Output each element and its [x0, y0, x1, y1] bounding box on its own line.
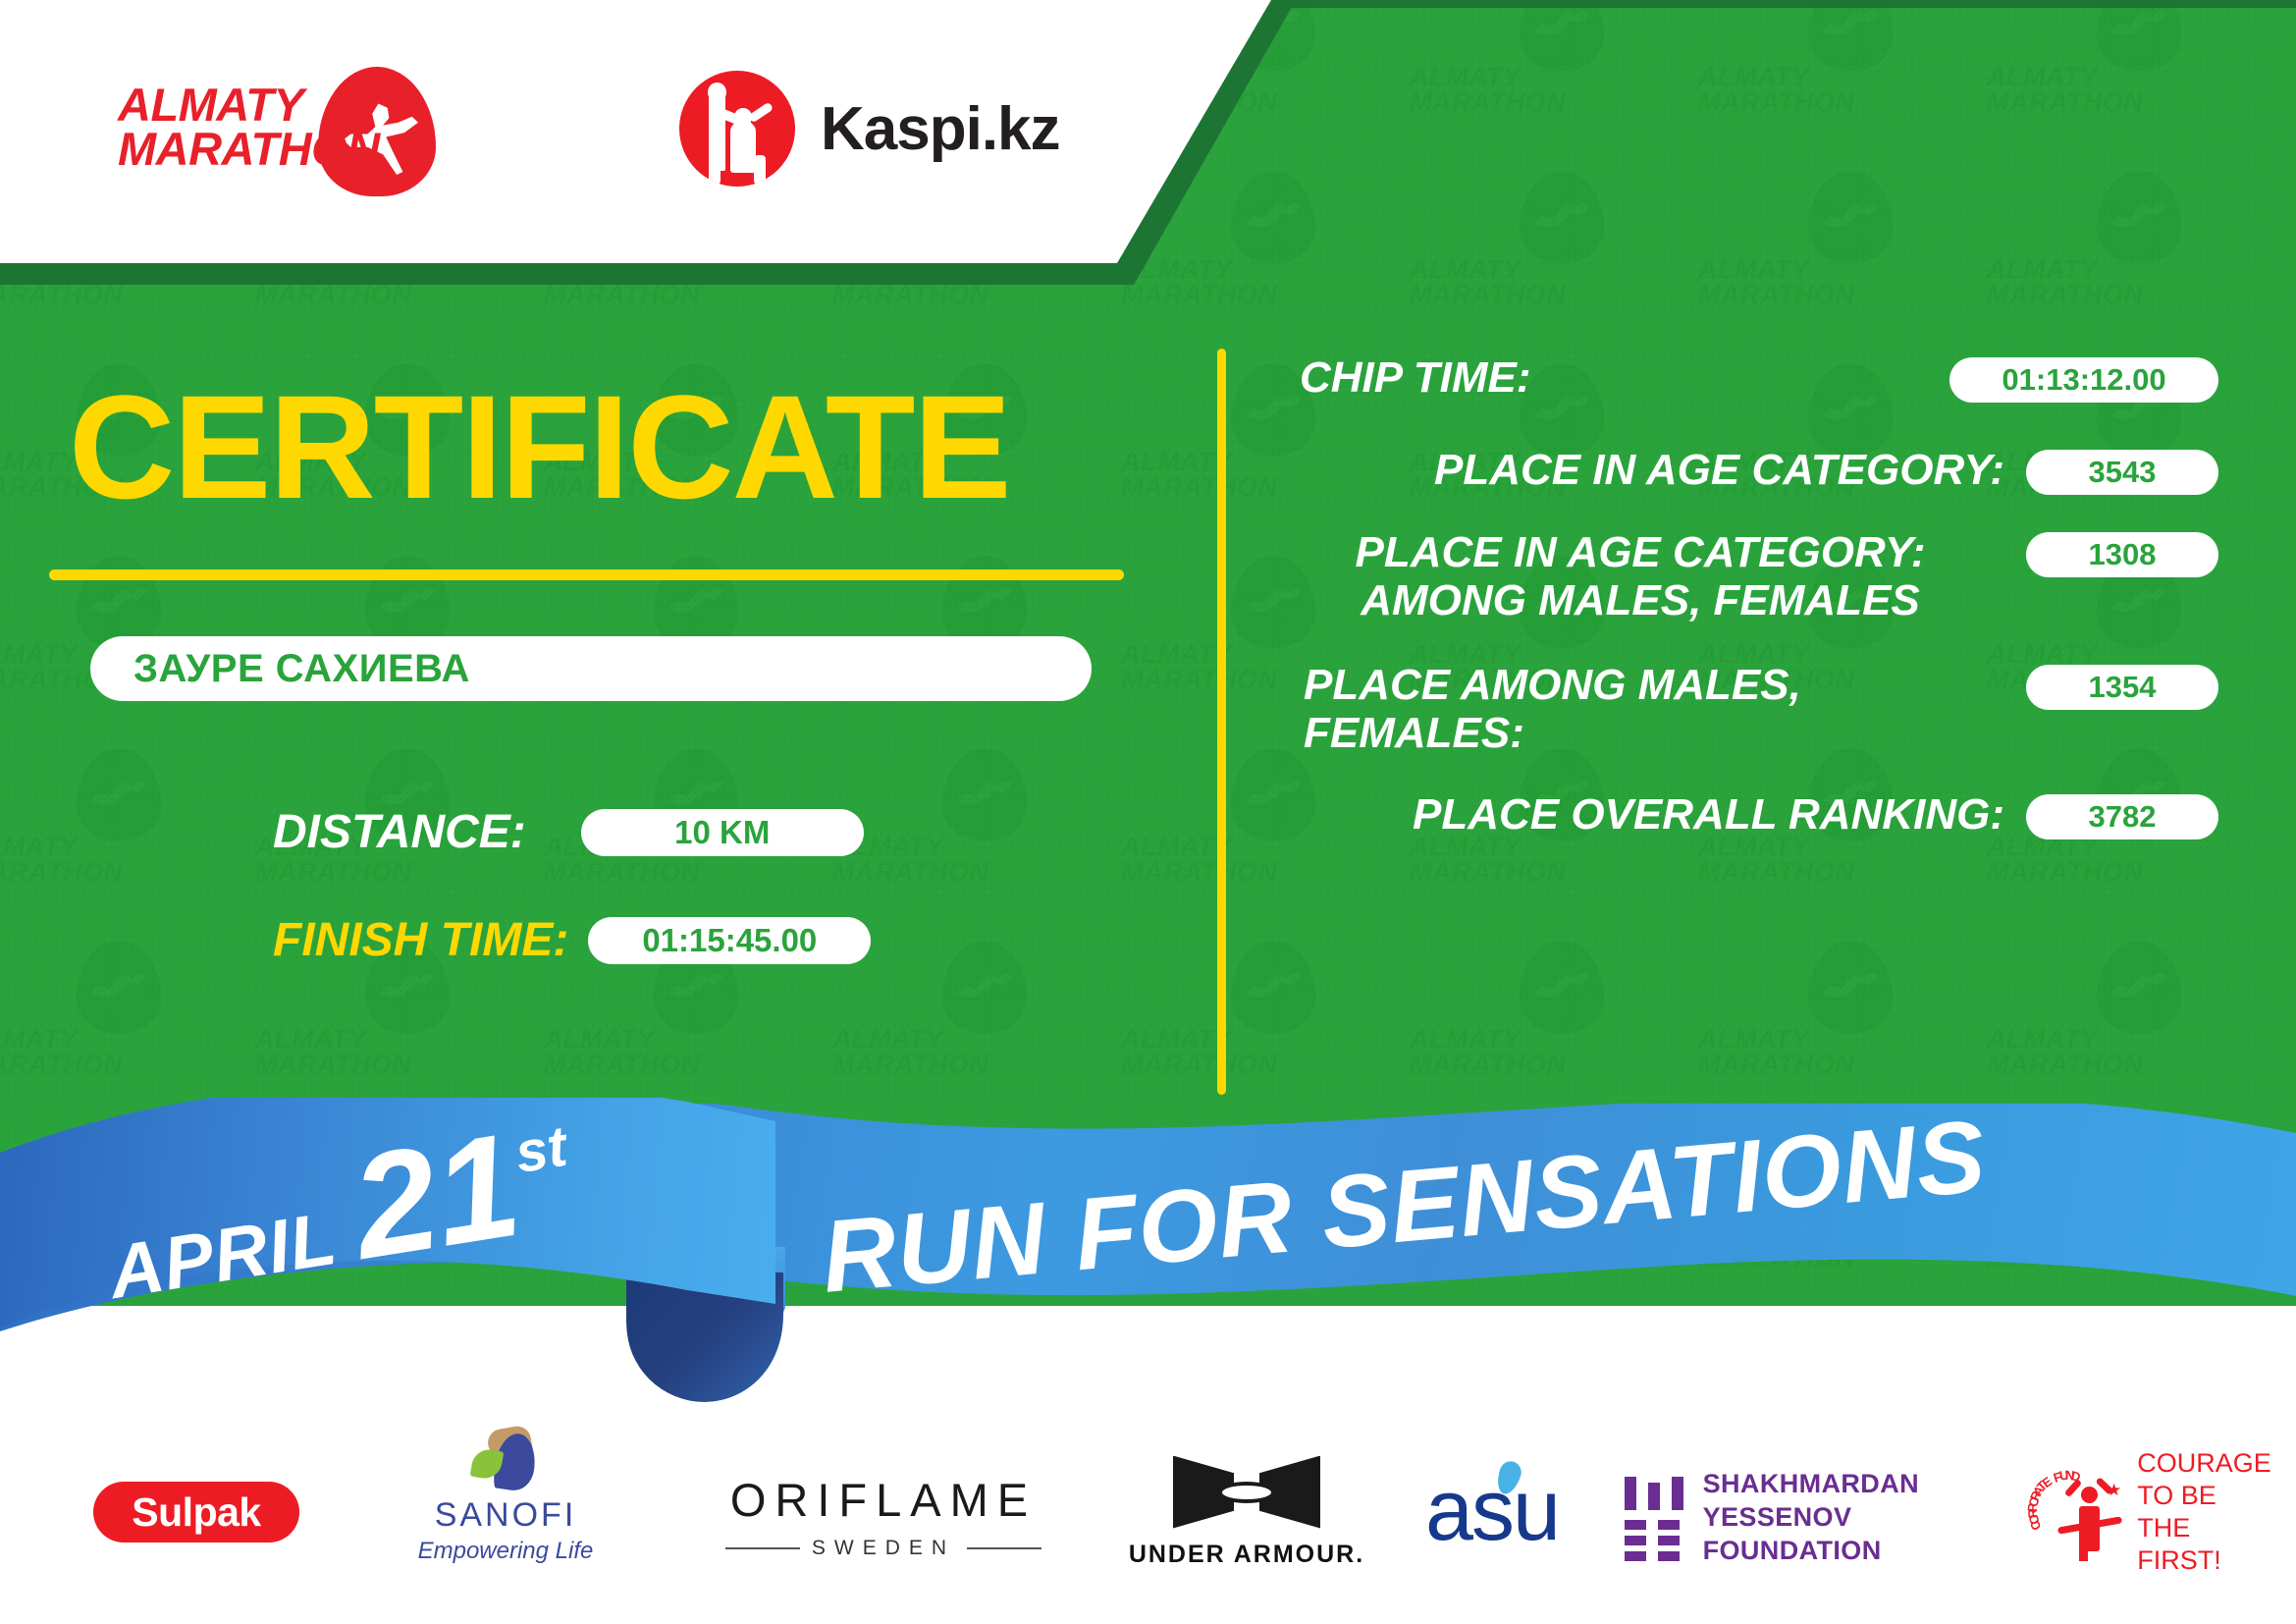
stat-row: PLACE OVERALL RANKING:3782: [1276, 790, 2218, 839]
oriflame-wordmark: ORIFLAME: [707, 1473, 1060, 1527]
sanofi-leaf-icon: [466, 1428, 545, 1492]
watermark-text: ALMATYMARATHON: [1698, 65, 1924, 115]
watermark-drop-icon: [1231, 941, 1315, 1033]
watermark-drop-icon: [1808, 171, 1893, 263]
event-day: 21: [345, 1118, 527, 1274]
event-month: APRIL: [103, 1196, 343, 1316]
sponsor-sulpak: Sulpak: [88, 1434, 304, 1591]
finish-time-row: FINISH TIME: 01:15:45.00: [273, 913, 871, 967]
certificate-canvas: ALMATYMARATHONALMATYMARATHONALMATYMARATH…: [0, 0, 2296, 1624]
sponsor-strip: Sulpak SANOFI Empowering Life ORIFLAME S…: [0, 1424, 2296, 1610]
watermark-drop-icon: [77, 748, 161, 840]
watermark-drop-icon: [1520, 941, 1604, 1033]
watermark-drop-icon: [77, 941, 161, 1033]
sponsor-asu: asu: [1374, 1432, 1610, 1589]
distance-row: DISTANCE: 10 KM: [273, 805, 864, 859]
stat-row: PLACE IN AGE CATEGORY:AMONG MALES, FEMAL…: [1276, 528, 2218, 625]
watermark-drop-icon: [942, 748, 1027, 840]
courage-line3: THE FIRST!: [2137, 1512, 2277, 1577]
title-divider: [49, 569, 1124, 580]
watermark-tile: ALMATYMARATHON: [827, 740, 1115, 933]
sponsor-courage-fund: CORPORATE FUND ★ COURAGE TO BE THE FIRST…: [2032, 1434, 2277, 1591]
watermark-text: ALMATYMARATHON: [255, 1027, 481, 1077]
oriflame-subline: SWEDEN: [707, 1537, 1060, 1560]
finish-time-value: 01:15:45.00: [588, 917, 871, 964]
watermark-drop-icon: [1808, 941, 1893, 1033]
stat-label: CHIP TIME:: [1276, 353, 1949, 402]
watermark-text: ALMATYMARATHON: [1987, 1027, 2213, 1077]
almaty-marathon-wordmark: ALMATY MARATHON: [118, 82, 363, 171]
watermark-drop-icon: [1808, 0, 1893, 71]
event-ribbon: APRIL 21 st RUN FOR SENSATIONS: [0, 1080, 2296, 1434]
under-armour-icon: [1173, 1456, 1320, 1529]
sulpak-wordmark: Sulpak: [93, 1482, 299, 1543]
stat-value: 3543: [2026, 450, 2218, 495]
watermark-text: ALMATYMARATHON: [1410, 65, 1635, 115]
watermark-tile: ALMATYMARATHON: [0, 740, 249, 933]
stat-row: PLACE IN AGE CATEGORY:3543: [1276, 446, 2218, 495]
watermark-text: ALMATYMARATHON: [832, 835, 1058, 885]
stat-row: CHIP TIME:01:13:12.00: [1276, 353, 2218, 403]
watermark-text: ALMATYMARATHON: [1121, 1027, 1347, 1077]
stat-value: 1354: [2026, 665, 2218, 710]
watermark-text: ALMATYMARATHON: [1410, 1027, 1635, 1077]
watermark-text: ALMATYMARATHON: [1987, 257, 2213, 307]
watermark-tile: ALMATYMARATHON: [1404, 0, 1692, 163]
page-title: CERTIFICATE: [69, 373, 1129, 520]
yessenov-line1: SHAKHMARDAN YESSENOV: [1703, 1468, 2037, 1535]
watermark-tile: ALMATYMARATHON: [1404, 163, 1692, 355]
distance-label: DISTANCE:: [273, 805, 526, 859]
kaspi-logo: Kaspi.kz: [679, 71, 1060, 187]
courage-line2: TO BE: [2137, 1480, 2277, 1512]
participant-name-field: ЗАУРЕ САХИЕВА: [90, 636, 1092, 701]
watermark-text: ALMATYMARATHON: [0, 835, 192, 885]
watermark-tile: ALMATYMARATHON: [1981, 0, 2269, 163]
watermark-text: ALMATYMARATHON: [1698, 257, 1924, 307]
sponsor-sanofi: SANOFI Empowering Life: [393, 1418, 618, 1575]
watermark-drop-icon: [2097, 0, 2181, 71]
watermark-text: ALMATYMARATHON: [1987, 65, 2213, 115]
sponsor-under-armour: UNDER ARMOUR.: [1109, 1434, 1384, 1591]
stat-label: PLACE IN AGE CATEGORY:: [1276, 446, 2026, 494]
watermark-drop-icon: [1520, 171, 1604, 263]
stat-label: PLACE OVERALL RANKING:: [1276, 790, 2026, 839]
distance-value: 10 KM: [581, 809, 864, 856]
stat-value: 3782: [2026, 794, 2218, 839]
courage-line1: COURAGE: [2137, 1447, 2277, 1480]
courage-child-icon: CORPORATE FUND ★: [2032, 1465, 2123, 1559]
stat-label: PLACE IN AGE CATEGORY:AMONG MALES, FEMAL…: [1276, 528, 2026, 625]
kaspi-family-icon: [679, 71, 795, 187]
watermark-text: ALMATYMARATHON: [832, 1027, 1058, 1077]
stat-label: PLACE AMONG MALES,FEMALES:: [1276, 661, 2026, 758]
event-day-suffix: st: [511, 1113, 571, 1186]
stats-list: CHIP TIME:01:13:12.00PLACE IN AGE CATEGO…: [1276, 353, 2218, 857]
kaspi-wordmark: Kaspi.kz: [821, 94, 1060, 164]
watermark-text: ALMATYMARATHON: [544, 1027, 770, 1077]
under-armour-wordmark: UNDER ARMOUR.: [1109, 1541, 1384, 1569]
oriflame-country: SWEDEN: [812, 1537, 955, 1560]
watermark-drop-icon: [942, 941, 1027, 1033]
yessenov-line2: FOUNDATION: [1703, 1535, 2037, 1568]
asu-wordmark: asu: [1425, 1467, 1559, 1553]
sanofi-wordmark: SANOFI: [393, 1496, 618, 1535]
watermark-tile: ALMATYMARATHON: [1692, 0, 1981, 163]
watermark-text: ALMATYMARATHON: [1698, 1027, 1924, 1077]
sanofi-tagline: Empowering Life: [393, 1538, 618, 1565]
yessenov-wordmark: SHAKHMARDAN YESSENOV FOUNDATION: [1703, 1468, 2037, 1567]
sponsor-oriflame: ORIFLAME SWEDEN: [707, 1437, 1060, 1595]
yessenov-bars-icon: [1625, 1477, 1680, 1559]
watermark-drop-icon: [2097, 171, 2181, 263]
watermark-tile: ALMATYMARATHON: [1981, 163, 2269, 355]
watermark-tile: ALMATYMARATHON: [1692, 163, 1981, 355]
courage-wordmark: COURAGE TO BE THE FIRST!: [2137, 1447, 2277, 1577]
almaty-line: ALMATY: [118, 82, 363, 127]
watermark-drop-icon: [1520, 0, 1604, 71]
sponsor-yessenov-foundation: SHAKHMARDAN YESSENOV FOUNDATION: [1625, 1439, 2037, 1597]
column-divider: [1217, 349, 1226, 1095]
watermark-drop-icon: [2097, 941, 2181, 1033]
marathon-line: MARATHON: [118, 127, 363, 171]
stat-value: 1308: [2026, 532, 2218, 577]
watermark-text: ALMATYMARATHON: [0, 1027, 192, 1077]
watermark-text: ALMATYMARATHON: [1410, 257, 1635, 307]
stat-value: 01:13:12.00: [1949, 357, 2218, 403]
finish-time-label: FINISH TIME:: [273, 913, 568, 967]
header-panel: ALMATY MARATHON Kaspi.kz: [0, 0, 1296, 285]
stat-row: PLACE AMONG MALES,FEMALES:1354: [1276, 661, 2218, 758]
almaty-marathon-logo: ALMATY MARATHON: [118, 59, 432, 196]
participant-name-value: ЗАУРЕ САХИЕВА: [133, 647, 470, 691]
